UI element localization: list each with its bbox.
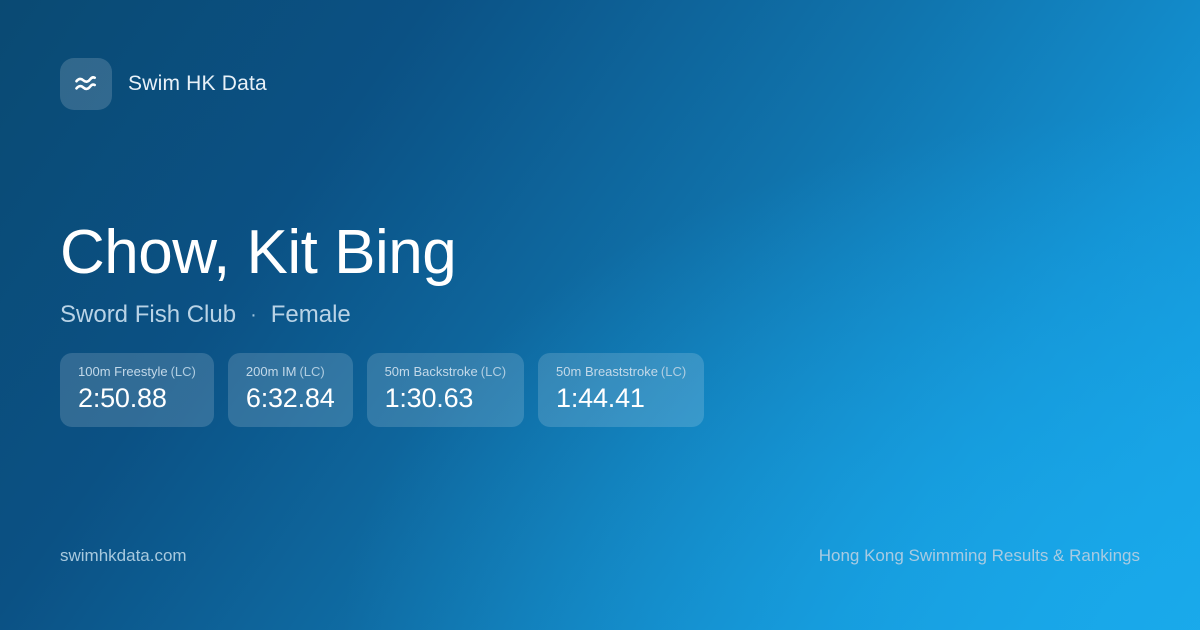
footer-site-url: swimhkdata.com bbox=[60, 546, 187, 566]
og-card-root: Swim HK Data Chow, Kit Bing Sword Fish C… bbox=[0, 0, 1200, 630]
meta-separator: · bbox=[250, 305, 257, 325]
stat-card: 50m Breaststroke(LC) 1:44.41 bbox=[538, 353, 704, 427]
stat-label: 200m IM(LC) bbox=[246, 365, 335, 379]
stat-card-list: 100m Freestyle(LC) 2:50.88 200m IM(LC) 6… bbox=[60, 353, 704, 427]
stat-value: 2:50.88 bbox=[78, 384, 196, 414]
stat-label: 100m Freestyle(LC) bbox=[78, 365, 196, 379]
athlete-meta: Sword Fish Club · Female bbox=[60, 301, 1140, 329]
stat-value: 6:32.84 bbox=[246, 384, 335, 414]
brand-header: Swim HK Data bbox=[60, 58, 267, 110]
athlete-gender: Female bbox=[271, 301, 351, 329]
brand-name: Swim HK Data bbox=[128, 72, 267, 96]
page-title: Chow, Kit Bing bbox=[60, 220, 1140, 287]
waves-icon bbox=[60, 58, 112, 110]
stat-card: 100m Freestyle(LC) 2:50.88 bbox=[60, 353, 214, 427]
stat-event-name: 50m Breaststroke bbox=[556, 364, 658, 379]
stat-event-name: 200m IM bbox=[246, 364, 297, 379]
stat-value: 1:30.63 bbox=[385, 384, 506, 414]
stat-course-code: (LC) bbox=[481, 364, 506, 379]
footer-tagline: Hong Kong Swimming Results & Rankings bbox=[819, 546, 1140, 566]
footer: swimhkdata.com Hong Kong Swimming Result… bbox=[60, 546, 1140, 566]
stat-event-name: 100m Freestyle bbox=[78, 364, 168, 379]
stat-card: 200m IM(LC) 6:32.84 bbox=[228, 353, 353, 427]
stat-label: 50m Backstroke(LC) bbox=[385, 365, 506, 379]
athlete-identity: Chow, Kit Bing Sword Fish Club · Female bbox=[60, 220, 1140, 329]
stat-event-name: 50m Backstroke bbox=[385, 364, 478, 379]
stat-card: 50m Backstroke(LC) 1:30.63 bbox=[367, 353, 524, 427]
stat-course-code: (LC) bbox=[299, 364, 324, 379]
stat-course-code: (LC) bbox=[171, 364, 196, 379]
stat-course-code: (LC) bbox=[661, 364, 686, 379]
athlete-club: Sword Fish Club bbox=[60, 301, 236, 329]
stat-value: 1:44.41 bbox=[556, 384, 686, 414]
stat-label: 50m Breaststroke(LC) bbox=[556, 365, 686, 379]
